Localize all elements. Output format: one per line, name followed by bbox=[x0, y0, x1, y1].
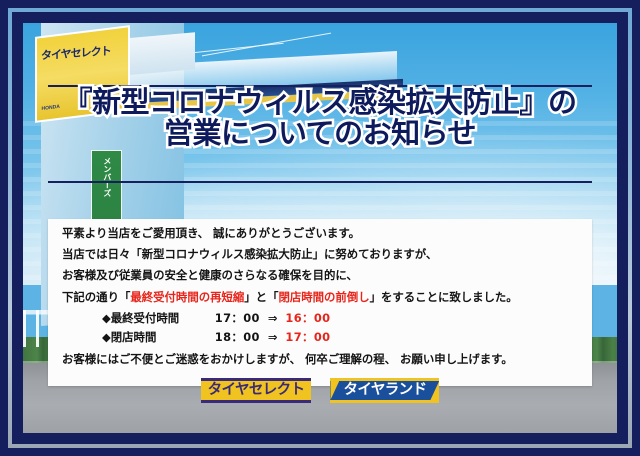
brand-badges: タイヤセレクト タイヤランド bbox=[23, 378, 617, 404]
title-block: 『新型コロナウィルス感染拡大防止』の 営業についてのお知らせ bbox=[23, 87, 617, 150]
schedule-arrow-2: ⇒ bbox=[268, 330, 278, 344]
title-line-2: 営業についてのお知らせ bbox=[23, 118, 617, 149]
message-panel-body: 平素より当店をご愛用頂き、 誠にありがとうございます。 当店では日々「新型コロナ… bbox=[48, 219, 592, 366]
message-line-2: 当店では日々「新型コロナウィルス感染拡大防止」に努めておりますが、 bbox=[62, 249, 578, 261]
message-line-4-post: 」をすることに致しました。 bbox=[370, 290, 518, 304]
message-closing-line: お客様にはご不便とご迷惑をおかけしますが、 何卒ご理解の程、 お願い申し上げます… bbox=[62, 354, 578, 366]
schedule-row-last-reception: ◆最終受付時間17：00⇒16：00 bbox=[102, 313, 578, 325]
schedule-new-time-2: 17：00 bbox=[285, 330, 330, 344]
message-line-4-mid: 」と「 bbox=[244, 290, 278, 304]
poster-root: タイヤセレクト HONDA メンバーズ 『新型コロナウィルス感染拡大防止』の bbox=[0, 0, 640, 456]
message-line-4-pre: 下記の通り「 bbox=[62, 290, 130, 304]
title-rule-bottom bbox=[48, 181, 592, 183]
members-banner-text: メンバーズ bbox=[103, 157, 111, 197]
schedule-new-time-1: 16：00 bbox=[285, 311, 330, 325]
frame-inner-band: タイヤセレクト HONDA メンバーズ 『新型コロナウィルス感染拡大防止』の bbox=[12, 12, 628, 444]
message-line-4: 下記の通り「最終受付時間の再短縮」と「閉店時間の前倒し」をすることに致しました。 bbox=[62, 292, 578, 304]
schedule-old-time-1: 17：00 bbox=[215, 311, 260, 325]
title-line-1: 『新型コロナウィルス感染拡大防止』の bbox=[23, 87, 617, 118]
schedule-arrow-1: ⇒ bbox=[268, 311, 278, 325]
badge-tire-land: タイヤランド bbox=[330, 378, 439, 404]
message-line-4-highlight-1: 最終受付時間の再短縮 bbox=[130, 290, 244, 304]
schedule-label-1: 最終受付時間 bbox=[111, 313, 215, 325]
schedule-bullet-2: ◆ bbox=[102, 330, 111, 344]
pylon-sign-text: タイヤセレクト bbox=[41, 43, 111, 64]
schedule-row-closing-time: ◆閉店時間18：00⇒17：00 bbox=[102, 332, 578, 344]
message-line-1: 平素より当店をご愛用頂き、 誠にありがとうございます。 bbox=[62, 228, 578, 240]
message-line-4-highlight-2: 閉店時間の前倒し bbox=[278, 290, 369, 304]
schedule-bullet-1: ◆ bbox=[102, 311, 111, 325]
photo-stage: タイヤセレクト HONDA メンバーズ 『新型コロナウィルス感染拡大防止』の bbox=[23, 23, 617, 433]
schedule-label-2: 閉店時間 bbox=[111, 332, 215, 344]
schedule-old-time-2: 18：00 bbox=[215, 330, 260, 344]
message-line-3: お客様及び従業員の安全と健康のさらなる確保を目的に、 bbox=[62, 270, 578, 282]
badge-tire-select: タイヤセレクト bbox=[201, 378, 312, 404]
message-panel: 平素より当店をご愛用頂き、 誠にありがとうございます。 当店では日々「新型コロナ… bbox=[48, 219, 592, 386]
